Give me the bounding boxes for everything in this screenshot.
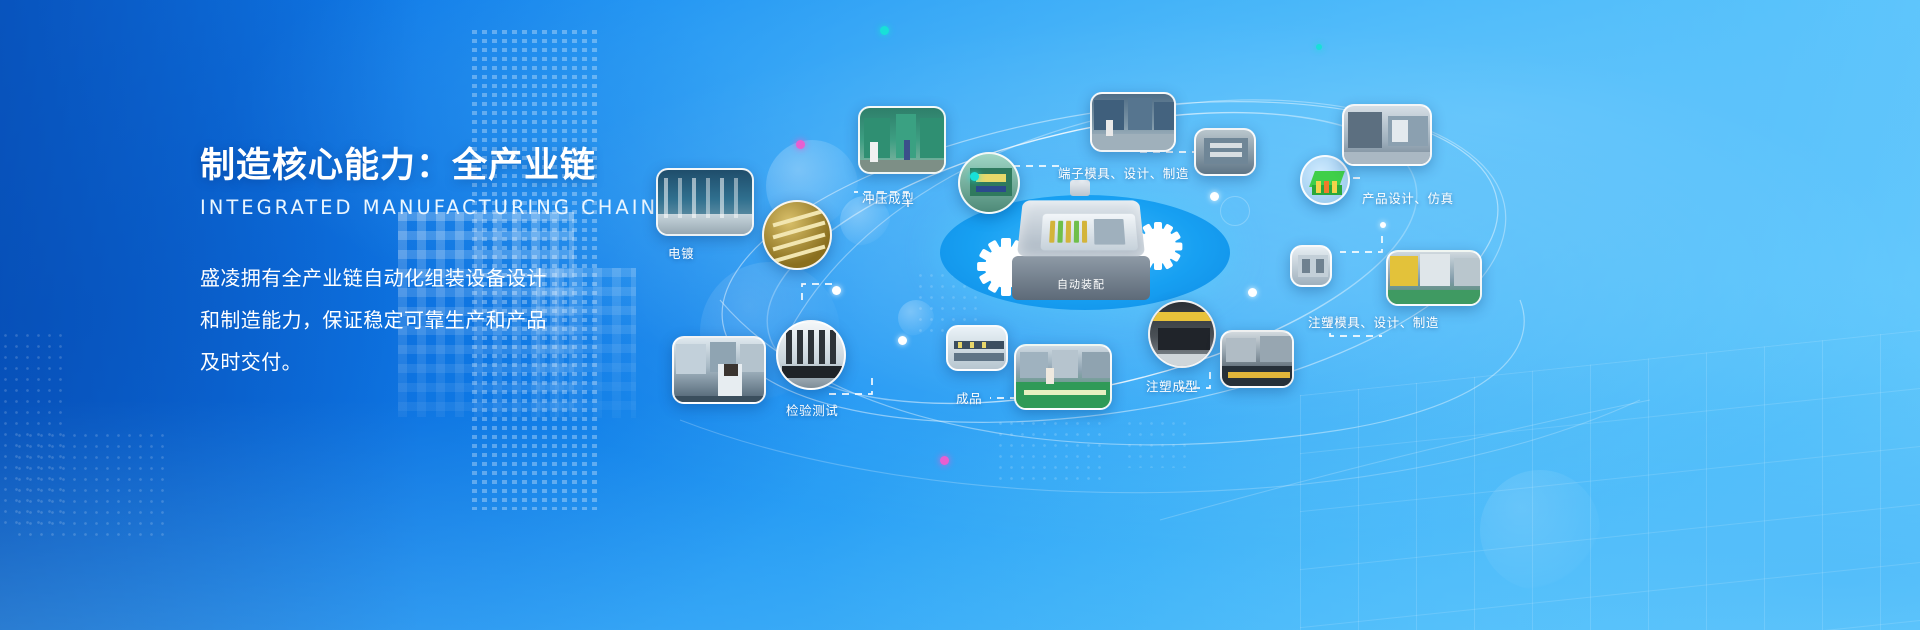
terminal-mold-part-photo[interactable] xyxy=(1194,128,1256,176)
node-injection-forming-label: 注塑成型 xyxy=(1146,376,1198,395)
inspection-probe-photo[interactable] xyxy=(776,320,846,390)
center-label: 自动装配 xyxy=(1012,276,1150,292)
plating-photo[interactable] xyxy=(656,168,754,236)
finished-product-photo[interactable] xyxy=(946,325,1008,371)
injection-mold-part-photo[interactable] xyxy=(1290,245,1332,287)
accent-dot-teal-1 xyxy=(880,26,889,35)
assembly-line-photo[interactable] xyxy=(1014,344,1112,410)
plating-part-photo[interactable] xyxy=(762,200,832,270)
product-design-photo[interactable] xyxy=(1342,104,1432,166)
page-subtitle: INTEGRATED MANUFACTURING CHAIN xyxy=(200,196,600,219)
product-design-icon-photo[interactable] xyxy=(1300,155,1350,205)
injection-mold-photo[interactable] xyxy=(1386,250,1482,306)
terminal-mold-photo[interactable] xyxy=(1090,92,1176,152)
banner-copy: 制造核心能力：全产业链 INTEGRATED MANUFACTURING CHA… xyxy=(200,146,600,383)
connector-dot-4 xyxy=(1210,192,1219,201)
banner-stage: 制造核心能力：全产业链 INTEGRATED MANUFACTURING CHA… xyxy=(0,0,1920,630)
accent-dot-pink-1 xyxy=(796,140,805,149)
accent-dot-teal-2 xyxy=(970,172,979,181)
connector-dot-2 xyxy=(898,336,907,345)
connector-dot-5 xyxy=(1380,222,1386,228)
page-title: 制造核心能力：全产业链 xyxy=(200,146,600,187)
connector-dot-3 xyxy=(1248,288,1257,297)
stamping-photo[interactable] xyxy=(858,106,946,174)
node-plating-label: 电镀 xyxy=(668,243,694,262)
accent-dot-teal-3 xyxy=(1316,44,1322,50)
accent-dot-pink-2 xyxy=(940,456,949,465)
inspection-photo[interactable] xyxy=(672,336,766,404)
assembly-machine-illustration: 自动装配 xyxy=(1012,190,1150,300)
node-terminal-mold-label: 端子模具、设计、制造 xyxy=(1058,163,1189,182)
manufacturing-chain-diagram: 自动装配 电镀 xyxy=(640,0,1920,630)
injection-forming-photo[interactable] xyxy=(1148,300,1216,368)
connector-dot-1 xyxy=(832,286,841,295)
node-inspection-label: 检验测试 xyxy=(786,400,838,419)
stamping-part-photo[interactable] xyxy=(958,152,1020,214)
banner-description: 盛凌拥有全产业链自动化组装设备设计和制造能力，保证稳定可靠生产和产品及时交付。 xyxy=(200,257,560,383)
injection-forming-line-photo[interactable] xyxy=(1220,330,1294,388)
node-injection-mold-label: 注塑模具、设计、制造 xyxy=(1308,312,1439,331)
connection-wires xyxy=(640,0,1920,630)
node-product-design-label: 产品设计、仿真 xyxy=(1362,188,1454,207)
dot-grid-bottom-left xyxy=(14,430,164,540)
node-finished-product-label: 成品 xyxy=(956,388,982,407)
node-stamping-label: 冲压成型 xyxy=(862,188,914,207)
